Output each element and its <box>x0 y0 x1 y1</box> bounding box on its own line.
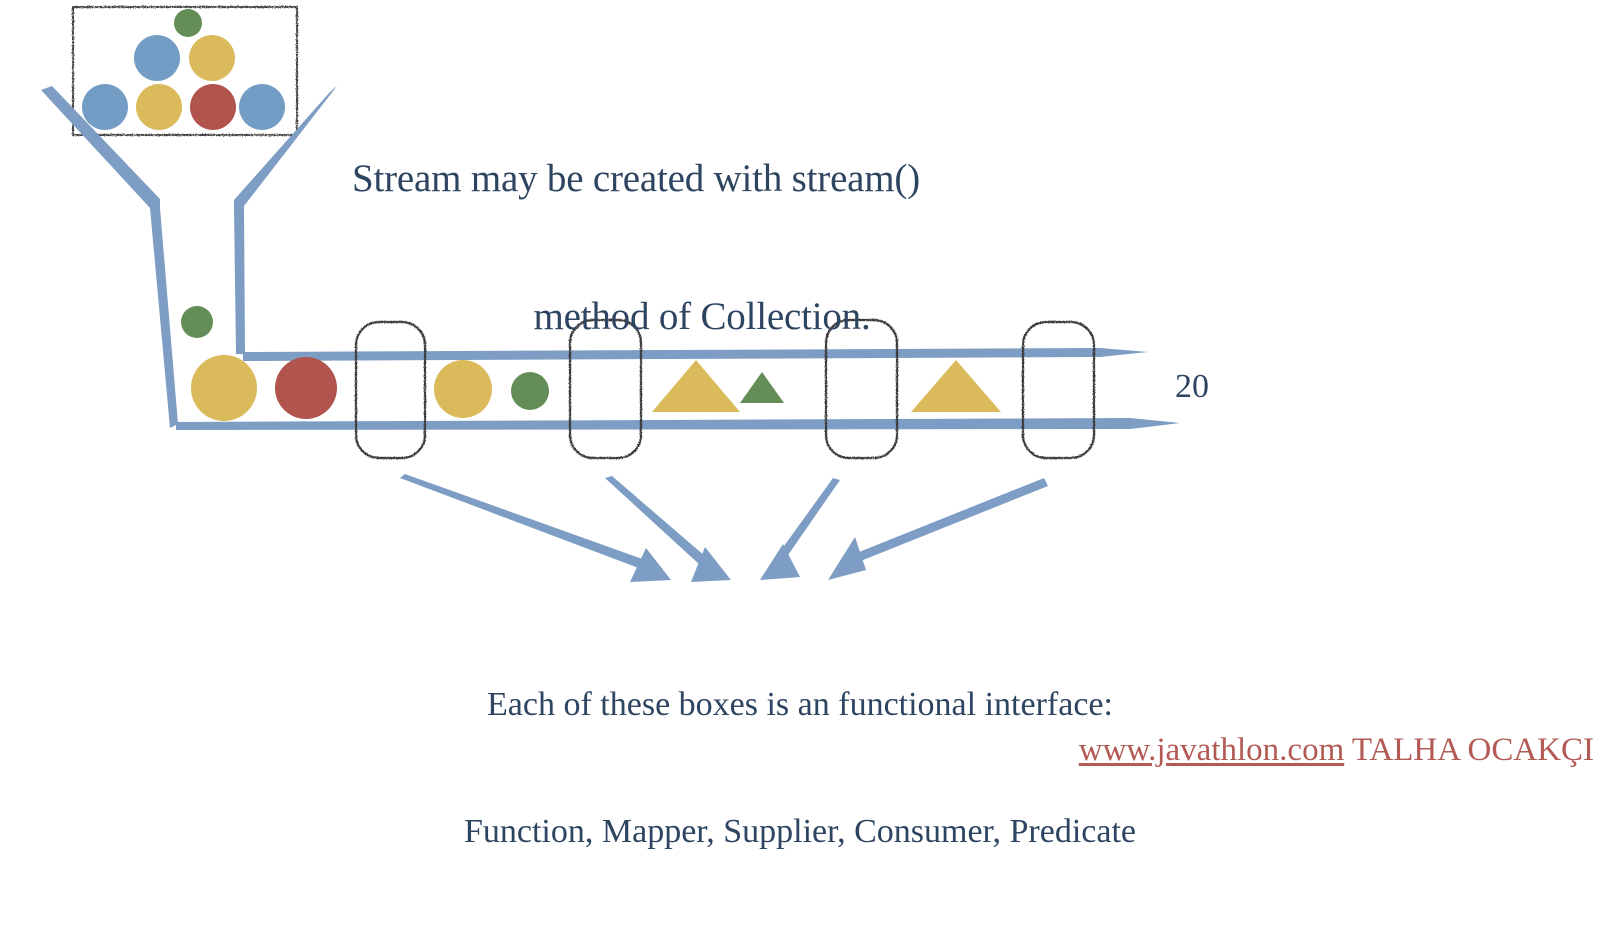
callout-arrow-1 <box>400 474 671 582</box>
yellow-circle <box>191 355 257 421</box>
callout-arrow-4 <box>828 478 1048 580</box>
callout-arrow-2 <box>605 476 731 582</box>
stream-count-label: 20 <box>1175 367 1209 407</box>
blue-circle <box>239 84 285 130</box>
slide-canvas: Stream may be created with stream() meth… <box>0 0 1600 799</box>
red-circle <box>275 357 337 419</box>
green-circle <box>174 9 202 37</box>
blue-circle <box>134 35 180 81</box>
website-link[interactable]: www.javathlon.com <box>1079 732 1344 768</box>
caption-line-2: Function, Mapper, Supplier, Consumer, Pr… <box>0 812 1600 852</box>
caption-line-1: Each of these boxes is an functional int… <box>0 685 1600 725</box>
page-title: Stream may be created with stream() meth… <box>352 64 1052 432</box>
headline-line-2: method of Collection. <box>352 294 1052 340</box>
box-callout-arrows <box>400 474 1048 582</box>
blue-circle <box>82 84 128 130</box>
collection-source-box <box>73 7 297 135</box>
yellow-circle <box>189 35 235 81</box>
funnel-left-wall <box>41 86 178 428</box>
callout-arrow-3 <box>760 478 840 580</box>
headline-line-1: Stream may be created with stream() <box>352 156 1052 202</box>
red-circle <box>190 84 236 130</box>
footer: www.javathlon.com TALHA OCAKÇI <box>0 731 1600 770</box>
green-circle <box>181 306 213 338</box>
yellow-circle <box>136 84 182 130</box>
author-name: TALHA OCAKÇI <box>1344 732 1594 768</box>
